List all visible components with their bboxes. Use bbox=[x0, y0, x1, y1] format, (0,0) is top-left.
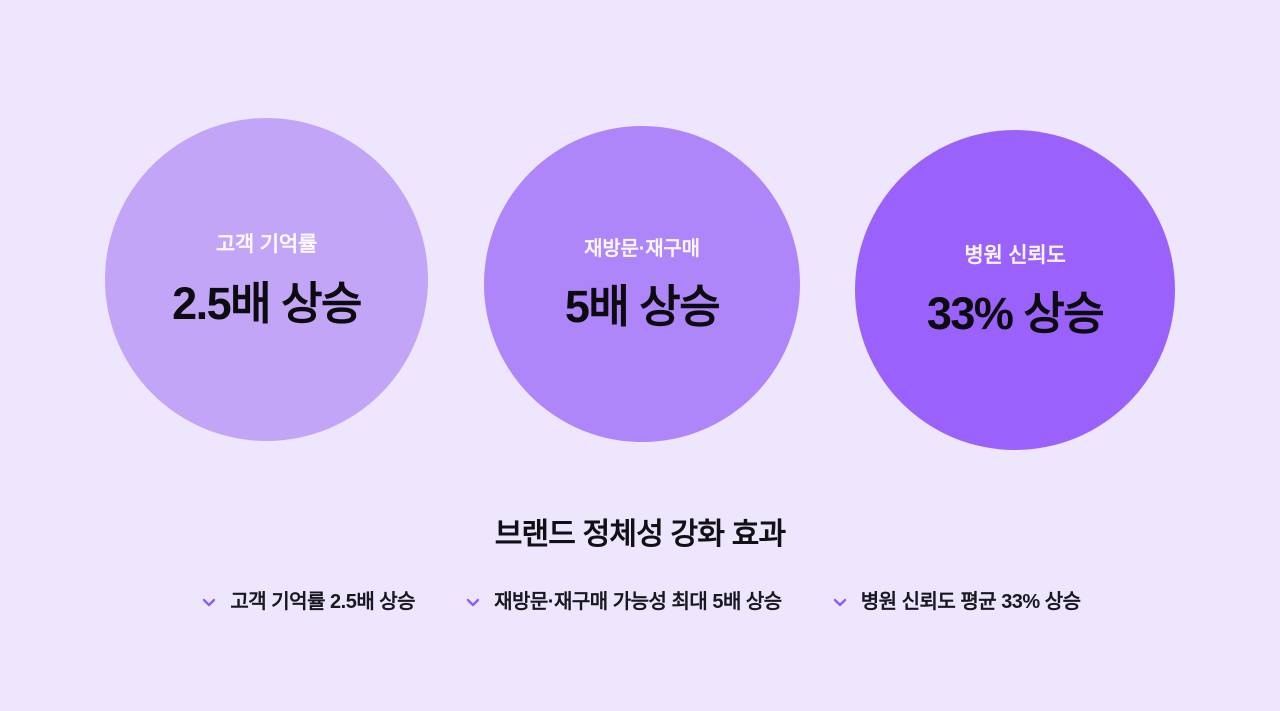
stat-value: 33% 상승 bbox=[927, 291, 1103, 336]
stat-value: 5배 상승 bbox=[565, 284, 719, 329]
check-chevron-icon bbox=[830, 592, 850, 612]
check-chevron-icon bbox=[199, 592, 219, 612]
list-item-label: 재방문·재구매 가능성 최대 5배 상승 bbox=[494, 592, 782, 612]
stat-label: 병원 신뢰도 bbox=[964, 245, 1065, 266]
stat-circle-hospital-trust: 병원 신뢰도 33% 상승 bbox=[855, 130, 1175, 450]
bullet-list: 고객 기억률 2.5배 상승 재방문·재구매 가능성 최대 5배 상승 병원 신… bbox=[0, 592, 1280, 612]
section-heading: 브랜드 정체성 강화 효과 bbox=[0, 517, 1280, 553]
stat-label: 재방문·재구매 bbox=[584, 239, 700, 259]
stat-label: 고객 기억률 bbox=[216, 234, 317, 255]
list-item: 고객 기억률 2.5배 상승 bbox=[199, 592, 415, 612]
list-item: 병원 신뢰도 평균 33% 상승 bbox=[830, 592, 1081, 612]
list-item: 재방문·재구매 가능성 최대 5배 상승 bbox=[463, 592, 782, 612]
stats-circle-row: 고객 기억률 2.5배 상승 재방문·재구매 5배 상승 병원 신뢰도 33% … bbox=[0, 118, 1280, 458]
list-item-label: 고객 기억률 2.5배 상승 bbox=[230, 592, 415, 612]
list-item-label: 병원 신뢰도 평균 33% 상승 bbox=[861, 592, 1081, 612]
check-chevron-icon bbox=[463, 592, 483, 612]
stat-circle-revisit-repurchase: 재방문·재구매 5배 상승 bbox=[484, 126, 800, 442]
stat-value: 2.5배 상승 bbox=[172, 281, 361, 326]
stat-circle-customer-recall: 고객 기억률 2.5배 상승 bbox=[105, 118, 428, 441]
